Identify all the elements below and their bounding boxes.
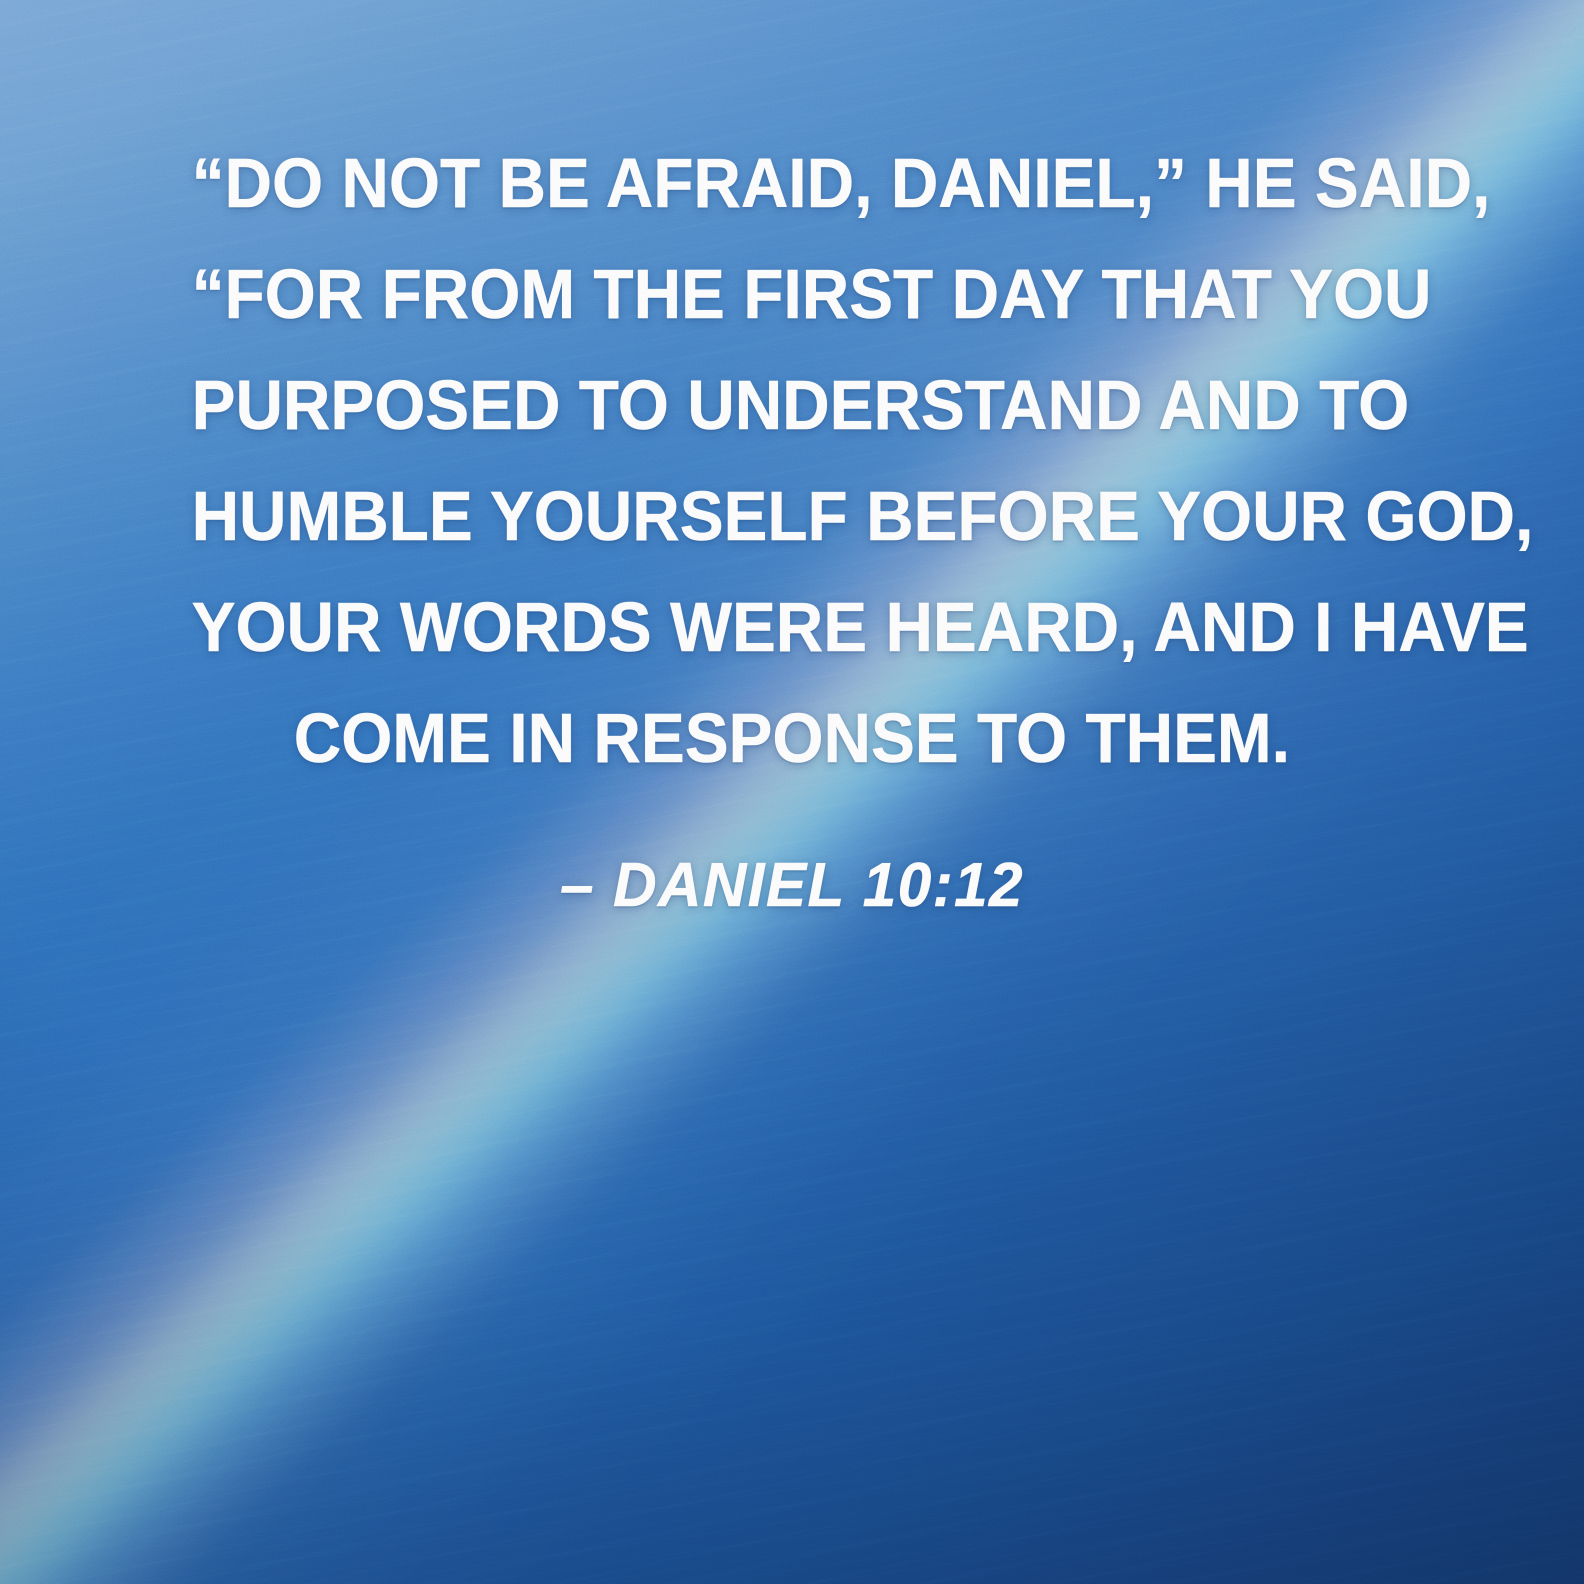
verse-line: YOUR WORDS WERE HEARD, AND I HAVE (192, 572, 1393, 683)
verse-line: “FOR FROM THE FIRST DAY THAT YOU (192, 239, 1393, 350)
verse-line: “DO NOT BE AFRAID, DANIEL,” HE SAID, (192, 128, 1393, 239)
verse-line: HUMBLE YOURSELF BEFORE YOUR GOD, (192, 461, 1393, 572)
verse-reference: – DANIEL 10:12 (169, 850, 1414, 922)
verse-text-block: “DO NOT BE AFRAID, DANIEL,” HE SAID, “FO… (0, 0, 1584, 922)
verse-line: PURPOSED TO UNDERSTAND AND TO (192, 350, 1393, 461)
verse-image-canvas: “DO NOT BE AFRAID, DANIEL,” HE SAID, “FO… (0, 0, 1584, 1584)
verse-line: COME IN RESPONSE TO THEM. (192, 683, 1393, 794)
